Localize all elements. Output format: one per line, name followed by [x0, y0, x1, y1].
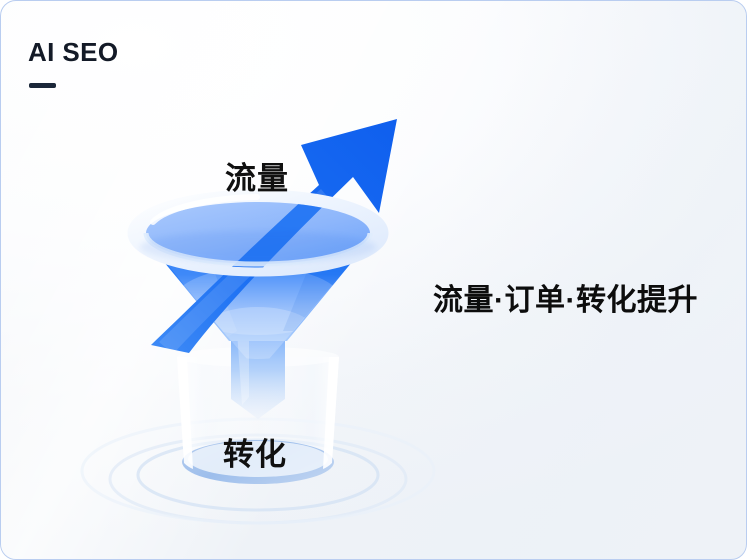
headline-text: 流量·订单·转化提升	[433, 275, 698, 319]
funnel-label-traffic: 流量	[225, 153, 289, 198]
funnel-label-conversion: 转化	[223, 429, 287, 474]
slide-canvas: AI SEO	[0, 0, 747, 560]
